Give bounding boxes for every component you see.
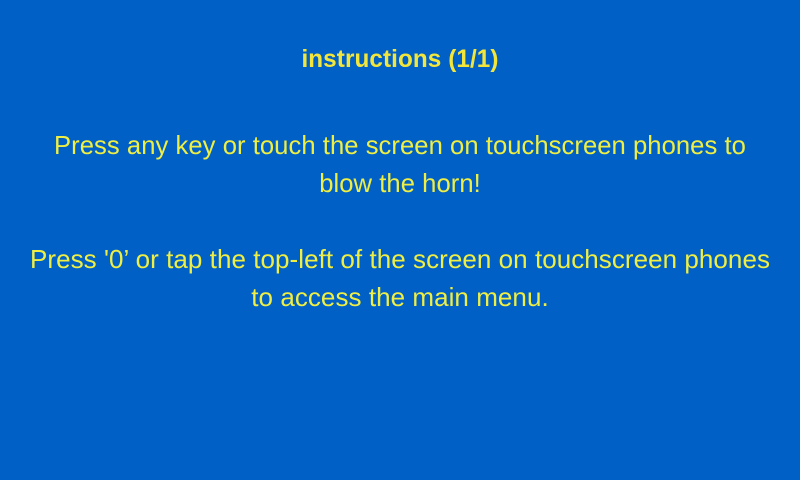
instruction-line-text: to access the main menu. — [0, 278, 800, 316]
instruction-line: to access the main menu. — [0, 278, 800, 316]
instruction-line-text: Press any key or touch the screen on tou… — [6, 126, 794, 164]
horn-instruction-paragraph: Press any key or touch the screen on tou… — [0, 126, 800, 202]
instructions-screen[interactable]: instructions (1/1) Press any key or touc… — [0, 0, 800, 480]
instruction-line: Press '0’ or tap the top-left of the scr… — [0, 240, 800, 278]
instruction-line-text: Press '0’ or tap the top-left of the scr… — [0, 240, 800, 278]
main-menu-instruction-paragraph: Press '0’ or tap the top-left of the scr… — [0, 240, 800, 316]
instruction-line: blow the horn! — [0, 164, 800, 202]
page-title: instructions (1/1) — [12, 44, 788, 74]
instruction-line: Press any key or touch the screen on tou… — [0, 126, 800, 164]
instruction-line-text: blow the horn! — [6, 164, 794, 202]
